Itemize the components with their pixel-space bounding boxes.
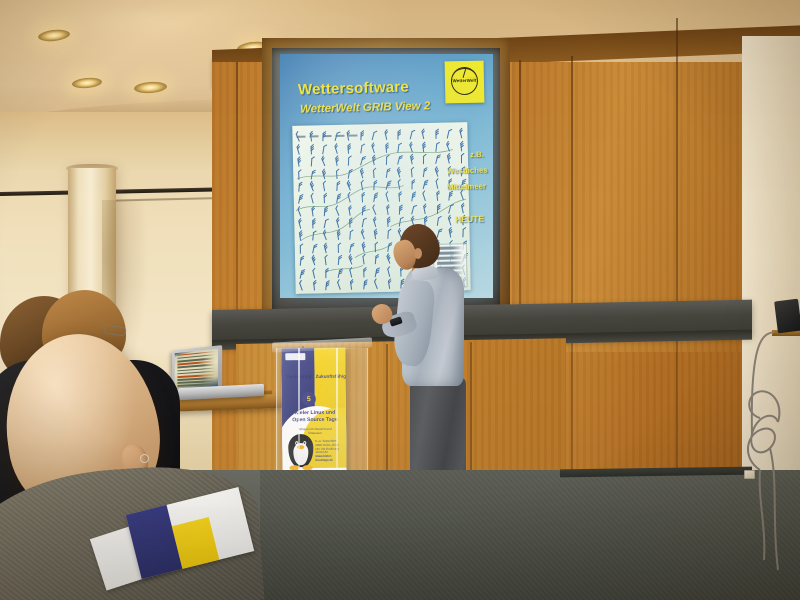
- logo-label: WetterWelt: [445, 78, 484, 84]
- wind-barb: [381, 132, 390, 142]
- right-monitor: [774, 299, 800, 334]
- wind-barb: [319, 133, 326, 142]
- wind-barb: [307, 182, 317, 193]
- wind-barb: [406, 131, 415, 141]
- wind-barb: [309, 220, 316, 229]
- wind-barb: [434, 205, 441, 214]
- wind-barb: [331, 133, 340, 144]
- wind-barb: [382, 144, 390, 154]
- wind-barb: [308, 208, 316, 218]
- wind-barb: [408, 169, 416, 179]
- wind-barb: [457, 192, 467, 203]
- wind-barb: [293, 133, 303, 144]
- wind-barb: [420, 168, 428, 178]
- wind-barb: [309, 233, 317, 243]
- wind-barb: [371, 231, 379, 241]
- wind-barb: [321, 244, 330, 254]
- wind-barb: [295, 183, 303, 193]
- wind-barb: [345, 170, 353, 180]
- wind-barb: [382, 193, 391, 204]
- wind-barb: [345, 194, 354, 205]
- wind-barb: [332, 158, 340, 168]
- wind-barb: [346, 244, 355, 254]
- wind-barb: [457, 143, 465, 153]
- wind-barb: [357, 169, 366, 180]
- wind-barb: [333, 219, 342, 230]
- wind-barb: [296, 233, 304, 243]
- wind-barb: [319, 170, 328, 181]
- wind-barb: [419, 144, 427, 154]
- wind-barb: [334, 232, 342, 242]
- wind-barb: [358, 231, 368, 242]
- wind-barb: [360, 281, 368, 291]
- wind-barb: [396, 194, 404, 203]
- wind-barb: [420, 205, 429, 215]
- wind-barb: [333, 183, 341, 192]
- wind-barb: [306, 133, 314, 143]
- wind-barb: [394, 156, 403, 166]
- wind-barb: [320, 183, 328, 193]
- wind-barb: [332, 207, 342, 218]
- wind-barb: [395, 132, 402, 141]
- wind-barb: [294, 146, 303, 157]
- slide-title: Wettersoftware: [298, 79, 409, 99]
- wind-barb: [296, 220, 305, 230]
- wind-barb: [333, 170, 340, 179]
- wind-barb: [358, 219, 367, 229]
- wind-barb: [394, 168, 403, 179]
- wind-barb: [297, 246, 304, 255]
- wind-barb: [319, 145, 327, 155]
- wind-barb: [358, 195, 365, 204]
- wind-barb: [295, 195, 304, 205]
- wind-barb: [320, 232, 330, 243]
- wind-barb: [295, 171, 302, 180]
- wind-barb: [359, 256, 367, 266]
- wind-barb: [307, 195, 316, 206]
- wind-barb: [382, 169, 390, 179]
- wind-barb: [420, 180, 429, 190]
- wind-barb: [371, 182, 378, 191]
- slide-note-4: HEUTE: [455, 214, 484, 225]
- wind-barb: [458, 155, 465, 164]
- presenter-ear: [414, 248, 422, 259]
- wind-barb: [295, 158, 303, 168]
- slide-note-1: z.B.: [470, 150, 484, 159]
- wind-barb: [357, 157, 366, 168]
- wind-barb: [408, 181, 415, 190]
- coiled-cables: [744, 330, 800, 580]
- wood-seam-3: [571, 56, 573, 526]
- wind-barb: [334, 257, 342, 267]
- wind-barb: [357, 145, 365, 155]
- wind-barb: [345, 145, 353, 154]
- wind-barb: [444, 155, 453, 165]
- wind-barb: [420, 193, 429, 204]
- wind-barb: [383, 157, 390, 166]
- wind-barb: [323, 270, 330, 279]
- wind-barb: [307, 170, 316, 180]
- wind-barb: [331, 145, 340, 156]
- wetterwelt-logo: WetterWelt: [445, 61, 485, 104]
- wind-barb: [308, 257, 318, 268]
- wind-barb: [358, 207, 366, 216]
- wind-barb: [444, 130, 453, 140]
- wind-barb: [334, 269, 343, 279]
- wind-barb: [321, 208, 329, 218]
- wind-barb: [344, 132, 353, 142]
- wind-barb: [346, 232, 354, 242]
- wind-barb: [432, 180, 441, 190]
- wind-barb: [369, 132, 378, 142]
- wind-barb: [432, 155, 441, 165]
- wind-barb: [369, 144, 378, 155]
- wind-barb: [407, 156, 416, 166]
- wind-barb: [358, 243, 367, 254]
- wind-barb: [394, 144, 402, 154]
- wind-barb: [346, 207, 354, 217]
- wind-barb: [357, 133, 364, 142]
- wind-barb: [322, 282, 330, 292]
- wind-barb: [369, 157, 378, 167]
- wind-barb: [334, 245, 341, 254]
- wind-barb: [346, 256, 356, 267]
- wind-barb: [406, 143, 416, 154]
- wind-barb: [420, 156, 427, 165]
- wind-barb: [357, 182, 365, 192]
- wind-barb: [419, 131, 428, 141]
- wind-barb: [310, 282, 318, 292]
- slide-note-2: Westliches: [447, 166, 488, 176]
- wind-barb: [432, 131, 439, 140]
- wind-barb: [334, 281, 344, 292]
- wind-barb: [307, 146, 314, 155]
- wind-barb: [396, 206, 403, 215]
- wind-barb: [395, 181, 404, 191]
- wind-barb: [321, 220, 330, 230]
- wind-barb: [408, 205, 417, 216]
- wind-barb: [433, 193, 441, 203]
- wind-barb: [345, 158, 352, 167]
- wind-barb: [297, 270, 306, 280]
- wood-seam-4: [676, 18, 678, 478]
- wind-barb: [346, 220, 353, 229]
- wood-seam-1: [236, 62, 238, 344]
- wind-barb: [432, 167, 442, 178]
- wind-barb: [370, 169, 378, 178]
- wind-barb: [319, 157, 329, 168]
- wind-barb: [297, 282, 307, 293]
- wind-barb: [307, 158, 315, 167]
- left-wall-upper: [0, 112, 236, 172]
- wind-barb: [372, 256, 380, 266]
- wind-barb: [372, 244, 379, 253]
- wind-barb: [322, 257, 330, 267]
- wind-barb: [432, 143, 440, 153]
- wind-barb: [408, 193, 416, 203]
- wind-barb: [371, 280, 381, 291]
- wind-barb: [347, 269, 356, 279]
- slide-subtitle: WetterWelt GRIB View 2: [300, 100, 430, 115]
- wind-barb: [360, 269, 367, 278]
- wind-barb: [445, 192, 453, 202]
- wind-barb: [445, 205, 454, 215]
- wind-barb: [383, 206, 391, 216]
- slide-note-3: Mittelmeer: [447, 182, 486, 192]
- laptop-screen: [175, 349, 218, 388]
- wind-barb: [372, 268, 381, 278]
- wind-barb: [321, 195, 328, 204]
- wind-barb: [309, 269, 318, 279]
- wind-barb: [297, 258, 305, 268]
- audience-earring: [140, 454, 149, 463]
- presentation-photo-scene: Wettersoftware WetterWelt GRIB View 2 We…: [0, 0, 800, 600]
- wind-barb: [370, 194, 378, 204]
- wind-barb: [347, 281, 355, 291]
- wind-barb: [456, 130, 465, 140]
- wind-barb: [333, 195, 342, 205]
- wind-barb: [370, 218, 379, 229]
